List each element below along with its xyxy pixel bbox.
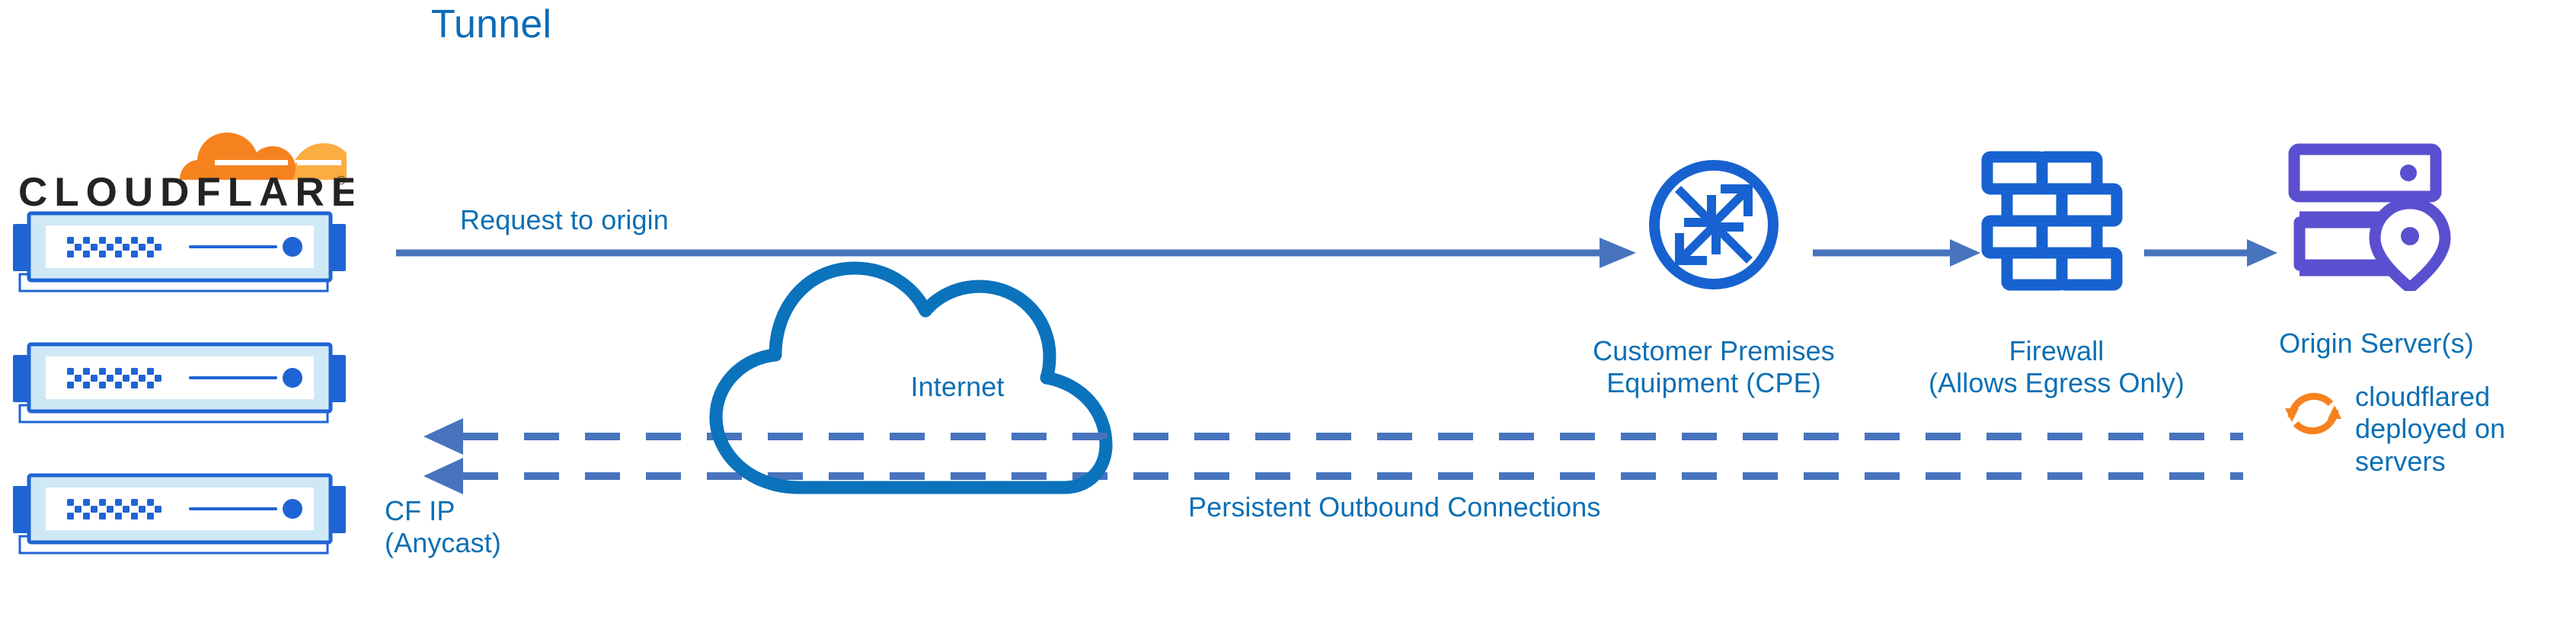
cloudflare-wordmark: CLOUDFLARE: [18, 170, 353, 213]
registered-trademark-mark: ®: [337, 174, 346, 187]
page-title: Tunnel: [431, 2, 551, 47]
firewall-to-origin-arrow: [2144, 239, 2277, 267]
customer-premises-equipment-label: Customer Premises Equipment (CPE): [1546, 335, 1881, 400]
persistent-outbound-connections-label: Persistent Outbound Connections: [1188, 491, 1600, 523]
server-rack-icon: [12, 341, 347, 424]
request-to-origin-arrow: [396, 238, 1636, 268]
router-arrows-icon: [1641, 152, 1786, 297]
server-rack-icon: [12, 210, 347, 293]
cloudflared-deployed-label: cloudflared deployed on servers: [2355, 381, 2553, 478]
persistent-connection-dashed-line-2: [423, 458, 2243, 494]
cloudflare-logo: CLOUDFLARE ®: [18, 107, 353, 213]
tunnel-diagram-canvas: Tunnel CLOUDFLARE ®: [0, 0, 2576, 617]
internet-label: Internet: [866, 371, 1049, 403]
cpe-to-firewall-arrow: [1813, 239, 1980, 267]
sync-circular-arrows-icon: [2280, 381, 2346, 446]
cf-ip-anycast-label: CF IP (Anycast): [385, 495, 501, 560]
persistent-connection-dashed-line-1: [423, 418, 2243, 455]
brick-wall-icon: [1977, 146, 2129, 299]
request-to-origin-label: Request to origin: [460, 204, 669, 236]
origin-server-label: Origin Server(s): [2247, 328, 2506, 360]
server-location-pin-icon: [2284, 139, 2466, 291]
firewall-label: Firewall (Allows Egress Only): [1927, 335, 2186, 400]
server-rack-icon: [12, 472, 347, 555]
